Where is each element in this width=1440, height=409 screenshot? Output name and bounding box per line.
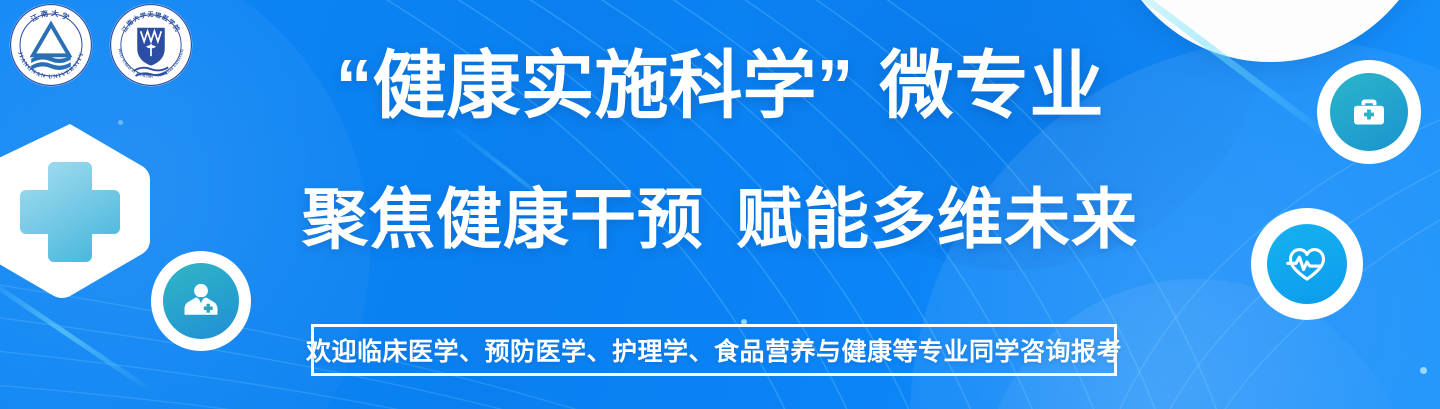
promo-banner: 江南大学 JIANGNAN UNIVERSITY (0, 0, 1440, 409)
title-quoted-part: “健康实施科学” (336, 44, 854, 127)
page-subtitle: 聚焦健康干预赋能多维未来 (0, 186, 1440, 252)
notice-text: 欢迎临床医学、预防医学、护理学、食品营养与健康等专业同学咨询报考 (306, 332, 1122, 368)
page-title: “健康实施科学”微专业 (0, 49, 1440, 123)
title-rest-part: 微专业 (880, 44, 1105, 127)
subtitle-right: 赋能多维未来 (736, 182, 1138, 256)
notice-box: 欢迎临床医学、预防医学、护理学、食品营养与健康等专业同学咨询报考 (311, 324, 1117, 376)
subtitle-left: 聚焦健康干预 (302, 182, 704, 256)
headline-group: “健康实施科学”微专业 聚焦健康干预赋能多维未来 欢迎临床医学、预防医学、护理学… (0, 0, 1440, 409)
